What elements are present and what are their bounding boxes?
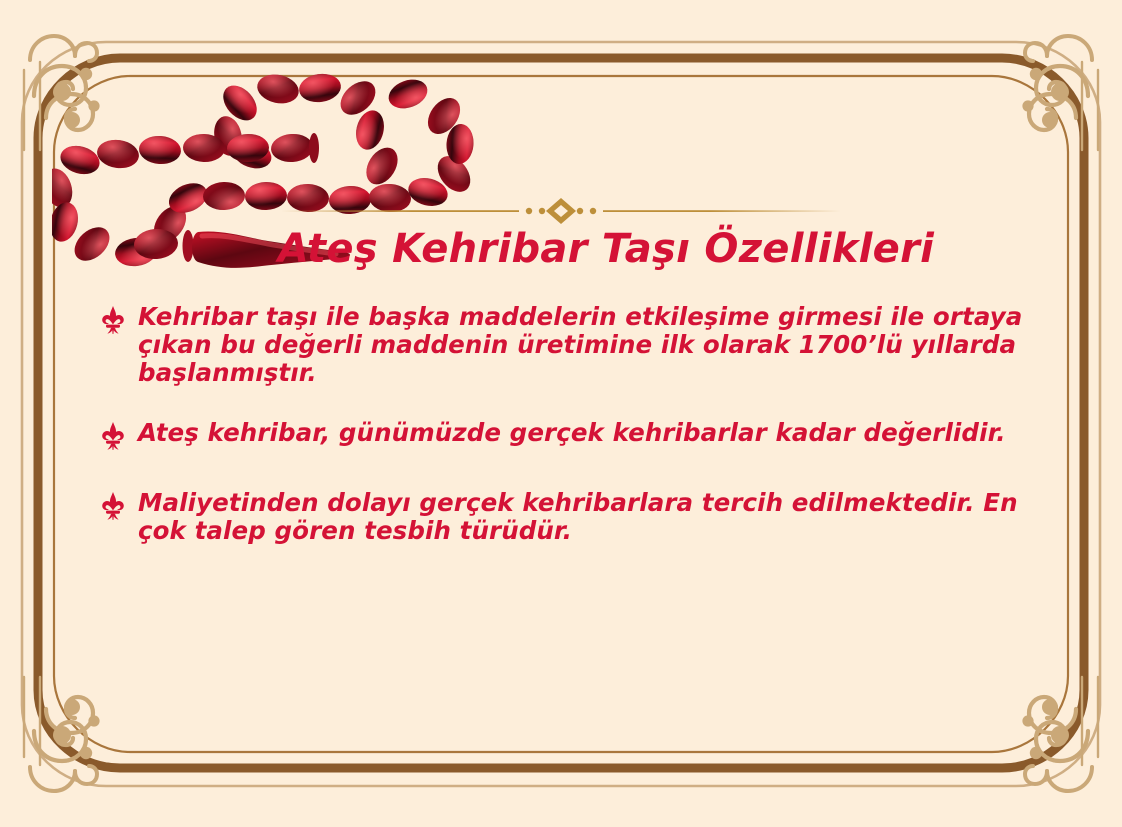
page-title: Ateş Kehribar Taşı Özellikleri bbox=[0, 226, 1122, 272]
corner-ornament-top-right bbox=[1022, 36, 1098, 150]
list-item: Ateş kehribar, günümüzde gerçek kehribar… bbox=[100, 419, 1050, 451]
fleur-de-lis-icon bbox=[100, 305, 126, 335]
list-item: Kehribar taşı ile başka maddelerin etkil… bbox=[100, 303, 1050, 387]
list-item-text: Kehribar taşı ile başka maddelerin etkil… bbox=[138, 303, 1050, 387]
list-item-text: Ateş kehribar, günümüzde gerçek kehribar… bbox=[138, 419, 1050, 447]
list-item: Maliyetinden dolayı gerçek kehribarlara … bbox=[100, 489, 1050, 545]
feature-list: Kehribar taşı ile başka maddelerin etkil… bbox=[100, 303, 1050, 545]
corner-ornament-bottom-left bbox=[24, 677, 100, 791]
fleur-de-lis-icon bbox=[100, 491, 126, 521]
gold-diamond-divider bbox=[281, 196, 841, 226]
fleur-de-lis-icon bbox=[100, 421, 126, 451]
corner-ornament-bottom-right bbox=[1022, 677, 1098, 791]
info-card: Ateş Kehribar Taşı Özellikleri Kehribar … bbox=[0, 0, 1122, 827]
list-item-text: Maliyetinden dolayı gerçek kehribarlara … bbox=[138, 489, 1050, 545]
